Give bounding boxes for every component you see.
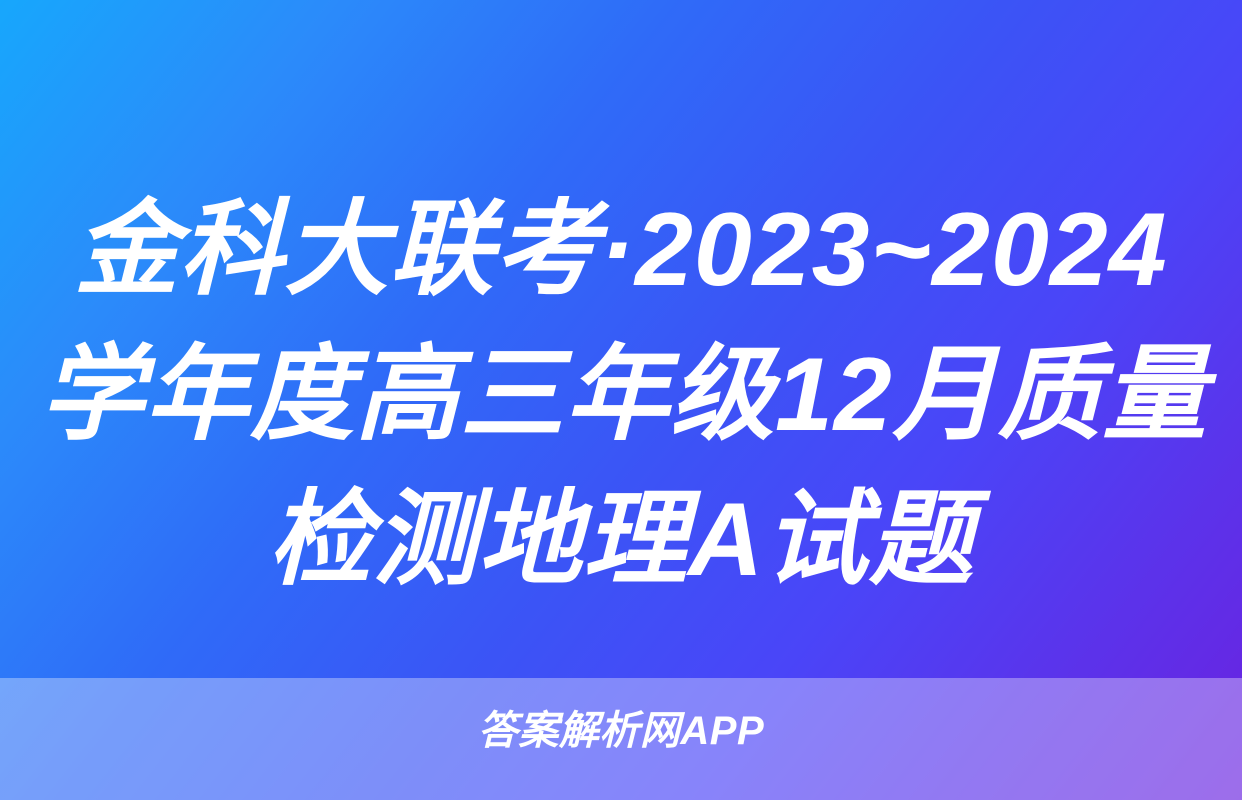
exam-title-banner: 金科大联考·2023~2024 学年度高三年级12月质量 检测地理A试题 答案解… [0, 0, 1242, 800]
title-line-2: 学年度高三年级12月质量 [40, 323, 1202, 468]
page-title: 金科大联考·2023~2024 学年度高三年级12月质量 检测地理A试题 [0, 178, 1242, 613]
watermark-label: 答案解析网APP [478, 707, 764, 755]
title-line-1: 金科大联考·2023~2024 [40, 178, 1202, 323]
watermark: 答案解析网APP [0, 707, 1242, 755]
title-line-3: 检测地理A试题 [40, 468, 1202, 613]
